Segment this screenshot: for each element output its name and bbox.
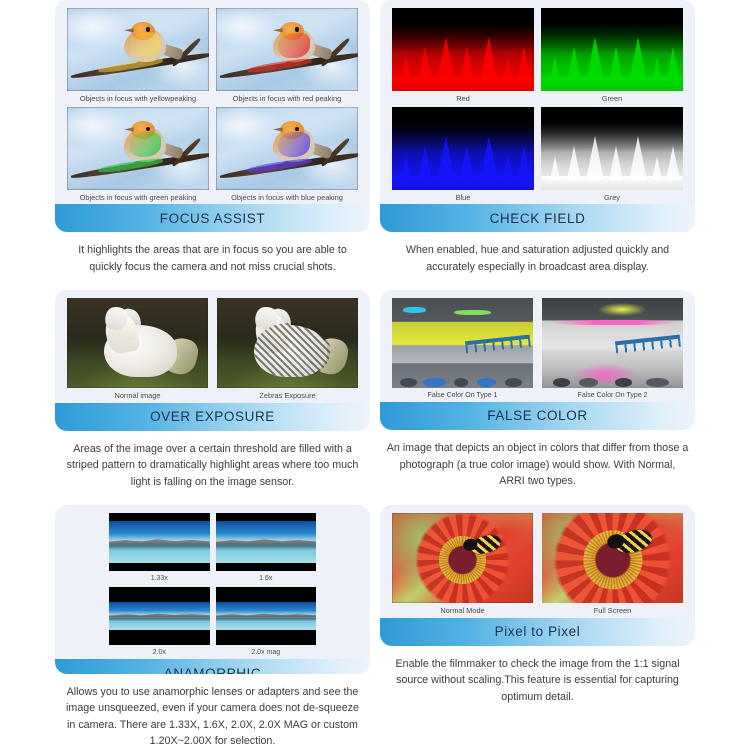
thumbnail-item[interactable]: Objects in focus with blue peaking <box>216 107 358 202</box>
thumbnail-label: Grey <box>604 193 620 203</box>
thumbnail-item[interactable]: 2.0x <box>109 587 210 658</box>
preview-image-bird-blue-peaking <box>216 107 358 190</box>
thumbnail-label: False Color On Type 2 <box>578 391 648 400</box>
thumbnail-item[interactable]: False Color On Type 1 <box>392 298 533 400</box>
thumbnail-grid: Normal image Zebras Exposure <box>67 298 358 401</box>
feature-caption: Areas of the image over a certain thresh… <box>55 431 370 491</box>
feature-banner-title: OVER EXPOSURE <box>55 403 370 431</box>
preview-image-flower-full-screen <box>542 513 683 603</box>
preview-image-check-field-green <box>541 8 683 91</box>
feature-card: Red <box>380 0 695 232</box>
thumbnail-grid: Normal Mode Full Screen <box>392 513 683 616</box>
feature-banner-title: FOCUS ASSIST <box>55 204 370 232</box>
thumbnail-item[interactable]: 2.0x mag <box>216 587 317 658</box>
thumbnail-label: Objects in focus with blue peaking <box>231 193 343 203</box>
thumbnail-item[interactable]: Grey <box>541 107 683 202</box>
preview-image-bird-green-peaking <box>67 107 209 190</box>
preview-image-bird-red-peaking <box>216 8 358 91</box>
thumbnail-area: 1.33x 1.6x 2.0x <box>55 505 370 659</box>
preview-image-check-field-blue <box>392 107 534 190</box>
thumbnail-label: Normal Mode <box>440 606 484 616</box>
preview-image-check-field-red <box>392 8 534 91</box>
thumbnail-item[interactable]: Green <box>541 8 683 103</box>
thumbnail-label: Zebras Exposure <box>259 391 315 401</box>
thumbnail-grid: False Color On Type 1 <box>392 298 683 400</box>
feature-banner-title: Pixel to Pixel <box>380 618 695 646</box>
feature-caption: When enabled, hue and saturation adjuste… <box>380 232 695 275</box>
thumbnail-item[interactable]: Blue <box>392 107 534 202</box>
feature-caption: An image that depicts an object in color… <box>380 430 695 490</box>
thumbnail-label: 2.0x <box>153 648 166 657</box>
feature-banner-title: FALSE COLOR <box>380 402 695 430</box>
thumbnail-label: Objects in focus with yellowpeaking <box>80 94 196 104</box>
thumbnail-item[interactable]: Full Screen <box>542 513 683 616</box>
thumbnail-label: 2.0x mag <box>251 648 280 657</box>
preview-image-flower-normal-mode <box>392 513 533 603</box>
thumbnail-item[interactable]: Red <box>392 8 534 103</box>
thumbnail-item[interactable]: 1.6x <box>216 513 317 584</box>
thumbnail-label: 1.6x <box>259 574 272 583</box>
feature-check-field: Red <box>380 0 695 290</box>
feature-anamorphic: 1.33x 1.6x 2.0x <box>55 505 370 750</box>
feature-false-color: False Color On Type 1 <box>380 290 695 505</box>
thumbnail-label: 1.33x <box>151 574 168 583</box>
thumbnail-label: Objects in focus with red peaking <box>233 94 341 104</box>
thumbnail-grid: 1.33x 1.6x 2.0x <box>67 513 358 657</box>
thumbnail-label: Normal image <box>114 391 160 401</box>
thumbnail-grid: Red <box>392 8 683 202</box>
feature-banner-title: CHECK FIELD <box>380 204 695 232</box>
thumbnail-label: Objects in focus with green peaking <box>80 193 197 203</box>
preview-image-false-color-type1 <box>392 298 533 388</box>
feature-over-exposure: Normal image Zebras Exposure OVER EXPOSU… <box>55 290 370 505</box>
preview-image-bird-yellow-peaking <box>67 8 209 91</box>
preview-image-anamorphic-20x-mag <box>216 587 317 645</box>
thumbnail-item[interactable]: Normal Mode <box>392 513 533 616</box>
thumbnail-area: Normal image Zebras Exposure <box>55 290 370 403</box>
thumbnail-item[interactable]: Objects in focus with red peaking <box>216 8 358 103</box>
thumbnail-area: Red <box>380 0 695 204</box>
thumbnail-item[interactable]: Zebras Exposure <box>217 298 358 401</box>
feature-card: Normal image Zebras Exposure OVER EXPOSU… <box>55 290 370 431</box>
feature-pixel-to-pixel: Normal Mode Full Screen Pixel to Pixel <box>380 505 695 750</box>
thumbnail-label: False Color On Type 1 <box>428 391 498 400</box>
thumbnail-item[interactable]: 1.33x <box>109 513 210 584</box>
thumbnail-item[interactable]: False Color On Type 2 <box>542 298 683 400</box>
preview-image-horse-normal <box>67 298 208 388</box>
preview-image-anamorphic-133x <box>109 513 210 571</box>
thumbnail-area: Objects in focus with yellowpeaking Obje… <box>55 0 370 204</box>
feature-caption: Enable the filmmaker to check the image … <box>380 646 695 706</box>
feature-banner-title: ANAMORPHIC <box>55 659 370 674</box>
preview-image-horse-zebra <box>217 298 358 388</box>
feature-card: 1.33x 1.6x 2.0x <box>55 505 370 674</box>
feature-card: Objects in focus with yellowpeaking Obje… <box>55 0 370 232</box>
thumbnail-label: Green <box>602 94 623 104</box>
preview-image-check-field-grey <box>541 107 683 190</box>
thumbnail-grid: Objects in focus with yellowpeaking Obje… <box>67 8 358 202</box>
feature-focus-assist: Objects in focus with yellowpeaking Obje… <box>55 0 370 290</box>
thumbnail-item[interactable]: Objects in focus with yellowpeaking <box>67 8 209 103</box>
thumbnail-label: Full Screen <box>594 606 631 616</box>
preview-image-false-color-type2 <box>542 298 683 388</box>
thumbnail-area: False Color On Type 1 <box>380 290 695 402</box>
feature-card: False Color On Type 1 <box>380 290 695 430</box>
feature-caption: It highlights the areas that are in focu… <box>55 232 370 275</box>
thumbnail-label: Blue <box>456 193 471 203</box>
thumbnail-item[interactable]: Objects in focus with green peaking <box>67 107 209 202</box>
thumbnail-area: Normal Mode Full Screen <box>380 505 695 618</box>
preview-image-anamorphic-16x <box>216 513 317 571</box>
feature-caption: Allows you to use anamorphic lenses or a… <box>55 674 370 750</box>
feature-card: Normal Mode Full Screen Pixel to Pixel <box>380 505 695 646</box>
thumbnail-item[interactable]: Normal image <box>67 298 208 401</box>
feature-grid: Objects in focus with yellowpeaking Obje… <box>0 0 750 750</box>
preview-image-anamorphic-20x <box>109 587 210 645</box>
thumbnail-label: Red <box>456 94 470 104</box>
